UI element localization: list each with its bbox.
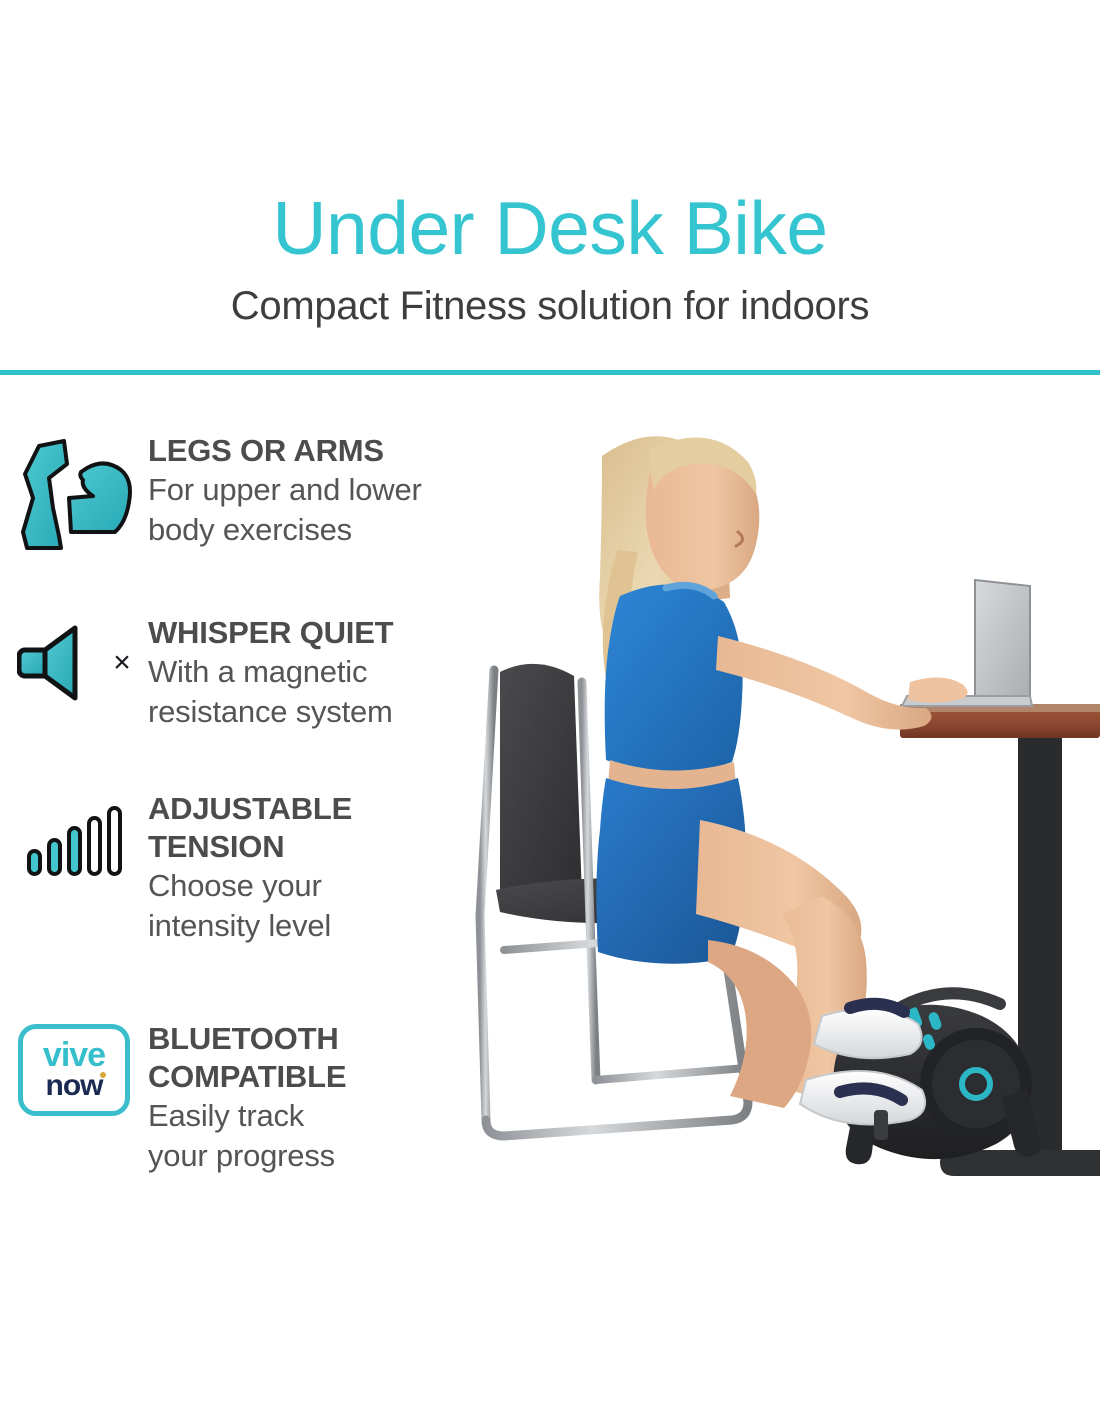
product-infographic: Under Desk Bike Compact Fitness solution… <box>0 0 1100 1422</box>
feature-item-adjustable-tension: ADJUSTABLE TENSION Choose your intensity… <box>0 790 540 946</box>
crop-top <box>605 584 743 772</box>
chair-backrest <box>500 664 582 903</box>
legs-arms-icon <box>0 432 148 556</box>
tension-bar-3 <box>67 826 82 876</box>
tension-bar-4 <box>87 816 102 876</box>
lower-leg-back <box>708 940 811 1108</box>
vive-now-logo-icon: vive now <box>0 1020 148 1116</box>
logo-bottom-word: now <box>46 1071 103 1101</box>
product-lifestyle-photo <box>470 420 1100 1240</box>
feature-heading-line1: ADJUSTABLE <box>148 790 352 828</box>
feature-item-legs-or-arms: LEGS OR ARMS For upper and lower body ex… <box>0 432 540 556</box>
hand <box>908 677 968 702</box>
feature-body-line1: Choose your <box>148 866 352 906</box>
feature-text: ADJUSTABLE TENSION Choose your intensity… <box>148 790 360 946</box>
tension-bar-2 <box>47 838 62 876</box>
chair-lower-rail <box>596 1068 746 1080</box>
feature-text: LEGS OR ARMS For upper and lower body ex… <box>148 432 430 550</box>
tension-bar-1 <box>27 849 42 876</box>
feature-heading-line2: COMPATIBLE <box>148 1058 346 1096</box>
logo-bottom-text: now <box>46 1069 103 1102</box>
brand-logo: vive now <box>18 1024 130 1116</box>
signal-bars-icon <box>0 790 148 876</box>
feature-heading: LEGS OR ARMS <box>148 432 422 470</box>
feature-body-line1: For upper and lower <box>148 470 422 510</box>
feature-heading-line1: BLUETOOTH <box>148 1020 346 1058</box>
logo-dot-icon <box>100 1072 106 1078</box>
tension-bar-5 <box>107 806 122 876</box>
logo-top-word: vive <box>43 1039 105 1071</box>
feature-text: BLUETOOTH COMPATIBLE Easily track your p… <box>148 1020 354 1176</box>
feature-body-line2: intensity level <box>148 906 352 946</box>
laptop-screen <box>975 580 1030 702</box>
feature-body-line2: your progress <box>148 1136 346 1176</box>
speaker-mute-icon: × <box>0 614 148 702</box>
feature-item-bluetooth-compatible: vive now BLUETOOTH COMPATIBLE Easily tra… <box>0 1020 540 1176</box>
arm <box>716 636 932 730</box>
feature-body-line1: With a magnetic <box>148 652 393 692</box>
header: Under Desk Bike Compact Fitness solution… <box>0 186 1100 330</box>
feature-body-line2: resistance system <box>148 692 393 732</box>
header-divider <box>0 370 1100 375</box>
chair-frame-left <box>480 670 494 1120</box>
feature-heading-line2: TENSION <box>148 828 352 866</box>
feature-body-line1: Easily track <box>148 1096 346 1136</box>
feature-body-line2: body exercises <box>148 510 422 550</box>
mute-x-icon: × <box>113 648 131 678</box>
page-subtitle: Compact Fitness solution for indoors <box>0 282 1100 330</box>
page-title: Under Desk Bike <box>0 186 1100 270</box>
feature-heading: WHISPER QUIET <box>148 614 393 652</box>
feature-item-whisper-quiet: × WHISPER QUIET With a magnetic resistan… <box>0 614 540 732</box>
feature-text: WHISPER QUIET With a magnetic resistance… <box>148 614 401 732</box>
pedal-buckle <box>874 1110 888 1140</box>
